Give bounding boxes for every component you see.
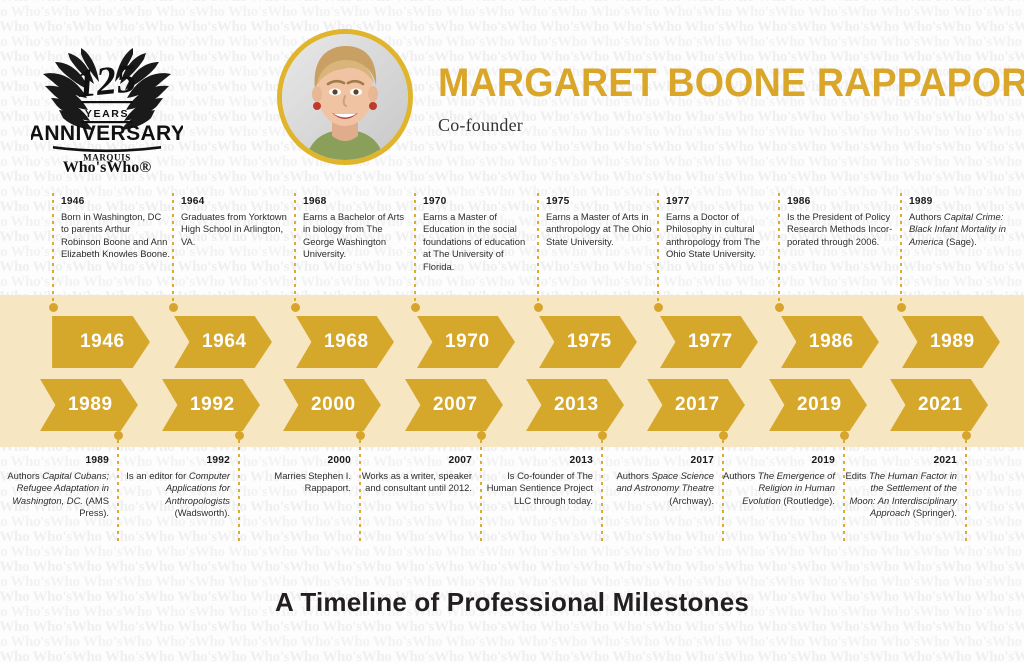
- chevron-year-label: 1968: [322, 331, 369, 353]
- milestone-text: Earns a Master of Education in the socia…: [423, 211, 525, 272]
- page-title: MARGARET BOONE RAPPAPORT, PHD: [438, 62, 974, 104]
- chevron-year-label: 2007: [431, 394, 478, 416]
- milestone-text: Edits The Human Factor in the Settlement…: [845, 470, 957, 519]
- svg-text:·YEARS·: ·YEARS·: [80, 108, 134, 120]
- milestone-top-1989: 1989Authors Capital Crime: Black Infant …: [909, 196, 1019, 248]
- chevron-year-label: 2021: [916, 394, 963, 416]
- milestone-bottom-2019: 2019Authors The Emergence of Religion in…: [722, 455, 835, 507]
- header: 125 ·YEARS· ANNIVERSARY MARQUIS Who'sWho…: [0, 0, 1024, 186]
- chevron-1946: 1946: [52, 316, 150, 368]
- chevron-year-label: 1977: [686, 331, 733, 353]
- portrait-photo: [282, 34, 408, 160]
- milestone-text: Works as a writer, speaker and consultan…: [362, 470, 472, 494]
- connector-bottom-7: [965, 433, 967, 545]
- milestone-year: 1970: [423, 196, 533, 209]
- milestone-year: 1964: [181, 196, 291, 209]
- infographic-page: Who'sWho Who'sWho Who'sWho Who'sWho Who'…: [0, 0, 1024, 663]
- chevron-year-label: 2000: [309, 394, 356, 416]
- laurel-wreath-icon: 125 ·YEARS· ANNIVERSARY MARQUIS Who'sWho…: [31, 26, 183, 172]
- milestone-bottom-2017: 2017Authors Space Science and Astronomy …: [601, 455, 714, 507]
- milestone-year: 1992: [117, 455, 230, 468]
- connector-top-7: [900, 193, 902, 308]
- connector-top-3: [414, 193, 416, 308]
- milestone-year: 1968: [303, 196, 413, 209]
- milestone-text: Authors Space Science and Astronomy Thea…: [616, 470, 714, 506]
- chevron-year-label: 1986: [807, 331, 854, 353]
- milestone-text: Authors Capital Cubans; Refugee Adaptati…: [7, 470, 109, 519]
- milestone-text: Earns a Doctor of Philosophy in cultural…: [666, 211, 760, 260]
- milestone-bottom-2013: 2013Is Co-founder of The Human Sentience…: [480, 455, 593, 507]
- svg-text:ANNIVERSARY: ANNIVERSARY: [31, 122, 183, 145]
- milestone-bottom-1992: 1992Is an editor for Computer Applicatio…: [117, 455, 230, 520]
- milestone-year: 2000: [238, 455, 351, 468]
- person-role: Co-founder: [438, 115, 1008, 136]
- chevron-year-label: 1992: [188, 394, 235, 416]
- chevron-year-label: 1970: [443, 331, 490, 353]
- milestone-year: 1977: [666, 196, 776, 209]
- connector-top-2: [294, 193, 296, 308]
- milestone-bottom-2021: 2021Edits The Human Factor in the Settle…: [844, 455, 957, 520]
- chevron-year-label: 2017: [673, 394, 720, 416]
- connector-top-4: [537, 193, 539, 308]
- milestone-top-1964: 1964Graduates from Yorktown High School …: [181, 196, 291, 248]
- svg-text:125: 125: [74, 55, 138, 106]
- milestone-text: Earns a Bachelor of Arts in biology from…: [303, 211, 404, 260]
- milestone-text: Authors The Emergence of Religion in Hum…: [723, 470, 835, 506]
- connector-top-6: [778, 193, 780, 308]
- milestone-text: Is Co-founder of The Human Sentience Pro…: [487, 470, 593, 506]
- milestone-year: 1989: [0, 455, 109, 468]
- milestone-text: Earns a Master of Arts in anthropology a…: [546, 211, 652, 247]
- milestone-year: 2007: [359, 455, 472, 468]
- title-block: MARGARET BOONE RAPPAPORT, PHD Co-founder: [438, 62, 1008, 136]
- milestone-year: 1989: [909, 196, 1019, 209]
- milestone-year: 1986: [787, 196, 897, 209]
- milestone-text: Is the President of Policy Research Meth…: [787, 211, 892, 247]
- connector-top-0: [52, 193, 54, 308]
- anniversary-logo: 125 ·YEARS· ANNIVERSARY MARQUIS Who'sWho…: [31, 26, 183, 172]
- chevron-year-label: 2019: [795, 394, 842, 416]
- milestone-year: 2017: [601, 455, 714, 468]
- milestone-text: Authors Capital Crime: Black Infant Mort…: [909, 211, 1006, 247]
- chevron-year-label: 1989: [928, 331, 975, 353]
- milestone-bottom-2000: 2000Marries Stephen I. Rappaport.: [238, 455, 351, 495]
- avatar: [277, 29, 413, 165]
- milestone-year: 2021: [844, 455, 957, 468]
- connector-top-5: [657, 193, 659, 308]
- milestone-top-1975: 1975Earns a Master of Arts in anthropolo…: [546, 196, 656, 248]
- milestone-text: Graduates from Yorktown High School in A…: [181, 211, 287, 247]
- milestone-year: 1975: [546, 196, 656, 209]
- milestone-top-1986: 1986Is the President of Policy Research …: [787, 196, 897, 248]
- milestone-year: 1946: [61, 196, 171, 209]
- chevron-year-label: 2013: [552, 394, 599, 416]
- milestone-bottom-1989: 1989Authors Capital Cubans; Refugee Adap…: [0, 455, 109, 520]
- milestone-text: Marries Stephen I. Rappaport.: [274, 470, 351, 494]
- footer-title: A Timeline of Professional Milestones: [0, 587, 1024, 618]
- chevron-year-label: 1975: [565, 331, 612, 353]
- milestone-top-1968: 1968Earns a Bachelor of Arts in biology …: [303, 196, 413, 261]
- milestone-top-1946: 1946Born in Washington, DC to parents Ar…: [61, 196, 171, 261]
- chevron-year-label: 1964: [200, 331, 247, 353]
- milestone-top-1970: 1970Earns a Master of Education in the s…: [423, 196, 533, 274]
- milestone-year: 2013: [480, 455, 593, 468]
- milestone-text: Is an editor for Computer Applications f…: [126, 470, 230, 519]
- chevron-year-label: 1989: [66, 394, 113, 416]
- svg-text:Who'sWho®: Who'sWho®: [63, 159, 151, 172]
- milestone-text: Born in Washington, DC to parents Arthur…: [61, 211, 170, 260]
- chevron-year-label: 1946: [78, 331, 125, 353]
- timeline-band: [0, 295, 1024, 447]
- milestone-year: 2019: [722, 455, 835, 468]
- milestone-bottom-2007: 2007Works as a writer, speaker and consu…: [359, 455, 472, 495]
- milestone-top-1977: 1977Earns a Doctor of Philosophy in cult…: [666, 196, 776, 261]
- connector-top-1: [172, 193, 174, 308]
